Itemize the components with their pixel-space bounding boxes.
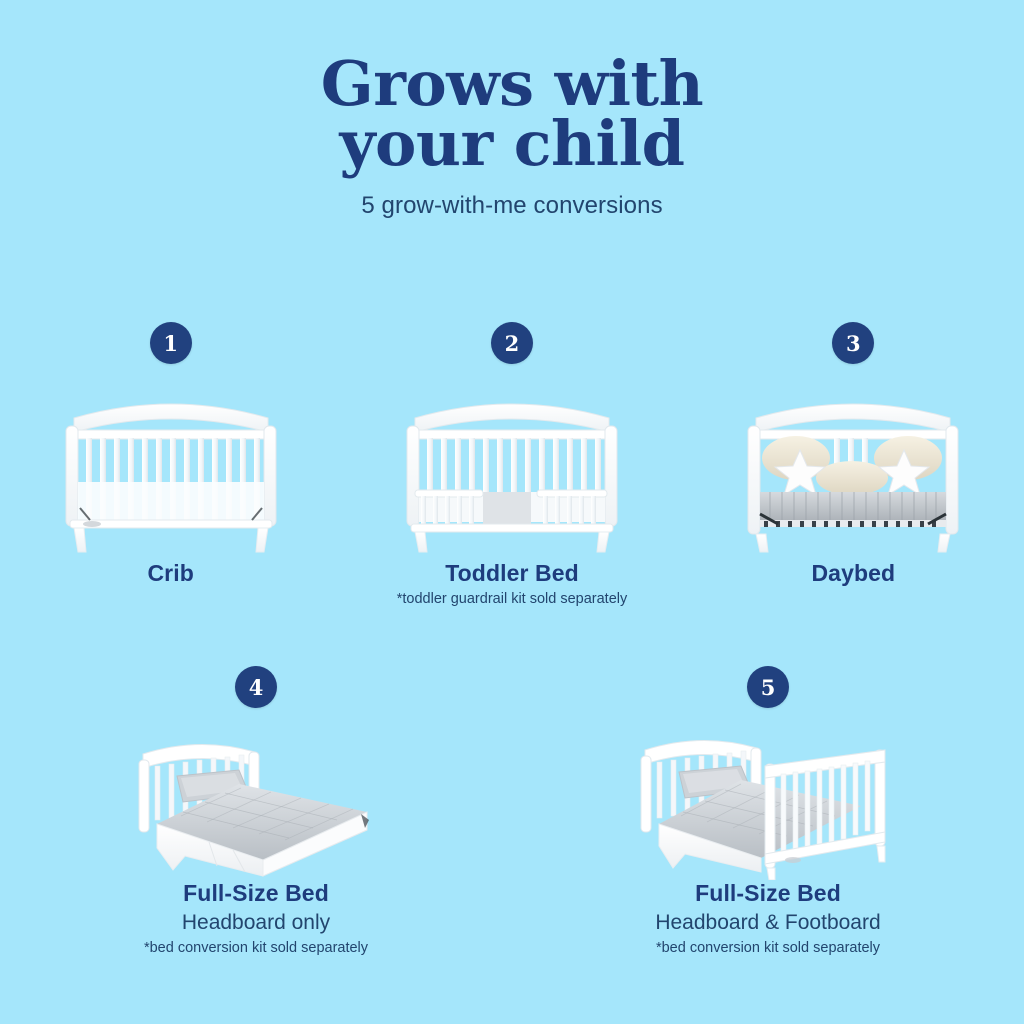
conversions-row-bottom: 4 bbox=[0, 666, 1024, 958]
full-size-headboard-footboard-labels: Full-Size Bed Headboard & Footboard *bed… bbox=[655, 880, 880, 958]
full-size-bed-headboard-illustration bbox=[121, 720, 391, 880]
step-badge-2: 2 bbox=[491, 322, 533, 364]
full-size-headboard-footboard-label: Full-Size Bed bbox=[655, 880, 880, 907]
conversion-item-daybed: 3 bbox=[683, 322, 1024, 609]
page-subtitle: 5 grow-with-me conversions bbox=[0, 192, 1024, 220]
page-title: Grows with your child bbox=[0, 54, 1024, 174]
toddler-bed-note: *toddler guardrail kit sold separately bbox=[397, 590, 628, 609]
crib-illustration bbox=[56, 374, 286, 554]
full-size-headboard-sub: Headboard only bbox=[144, 909, 368, 936]
infographic-page: Grows with your child 5 grow-with-me con… bbox=[0, 0, 1024, 1024]
toddler-bed-illustration bbox=[397, 374, 627, 554]
conversion-item-toddler-bed: 2 bbox=[341, 322, 682, 609]
daybed-labels: Daybed bbox=[811, 560, 895, 587]
full-size-headboard-label: Full-Size Bed bbox=[144, 880, 368, 907]
full-size-headboard-footboard-sub: Headboard & Footboard bbox=[655, 909, 880, 936]
crib-labels: Crib bbox=[147, 560, 193, 587]
step-badge-1: 1 bbox=[150, 322, 192, 364]
step-badge-3: 3 bbox=[832, 322, 874, 364]
conversions-row-top: 1 bbox=[0, 322, 1024, 609]
full-size-bed-headboard-footboard-illustration bbox=[623, 720, 913, 880]
conversion-item-full-size-headboard-footboard: 5 bbox=[512, 666, 1024, 958]
full-size-headboard-footboard-note: *bed conversion kit sold separately bbox=[655, 939, 880, 958]
conversion-item-crib: 1 bbox=[0, 322, 341, 609]
title-line-2: your child bbox=[0, 114, 1024, 174]
full-size-headboard-labels: Full-Size Bed Headboard only *bed conver… bbox=[144, 880, 368, 958]
conversion-item-full-size-headboard: 4 bbox=[0, 666, 512, 958]
toddler-bed-label: Toddler Bed bbox=[397, 560, 628, 587]
full-size-headboard-note: *bed conversion kit sold separately bbox=[144, 939, 368, 958]
crib-label: Crib bbox=[147, 560, 193, 587]
toddler-bed-labels: Toddler Bed *toddler guardrail kit sold … bbox=[397, 560, 628, 609]
step-badge-5: 5 bbox=[747, 666, 789, 708]
step-badge-4: 4 bbox=[235, 666, 277, 708]
daybed-illustration bbox=[738, 374, 968, 554]
header: Grows with your child 5 grow-with-me con… bbox=[0, 0, 1024, 220]
daybed-label: Daybed bbox=[811, 560, 895, 587]
